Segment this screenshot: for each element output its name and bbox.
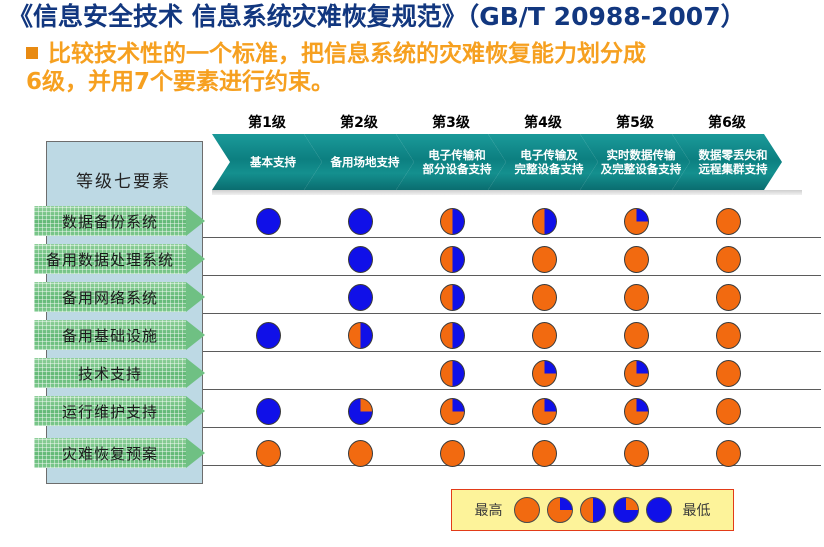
matrix-marker-r1-c3 [440,208,465,235]
matrix-marker-r1-c2 [348,208,373,235]
slide-bullet-block: 比较技术性的一个标准，把信息系统的灾难恢复能力划分成 6级，并用7个要素进行约束… [26,40,816,96]
legend-swatch-5 [646,497,672,523]
matrix-marker-r7-c4 [532,440,557,467]
square-bullet-icon [26,47,38,59]
slide-canvas: 《信息安全技术 信息系统灾难恢复规范》（GB/T 20988-2007） 比较技… [0,0,824,547]
row-tag-arrow-icon [186,438,205,468]
level-chevron-label-5: 实时数据传输及完整设备支持 [589,148,682,176]
row-tag-arrow-icon [186,320,205,350]
matrix-marker-r1-c1 [256,208,281,235]
legend-swatch-1 [514,497,540,523]
matrix-marker-r4-c3 [440,322,465,349]
matrix-marker-r3-c4 [532,284,557,311]
matrix-marker-r1-c6 [716,208,741,235]
row-tag-1[interactable]: 数据备份系统 [34,206,209,236]
row-tag-label-3: 备用网络系统 [34,282,186,312]
level-chevron-label-1: 基本支持 [238,155,296,169]
legend-high-label: 最高 [471,500,507,520]
matrix-marker-r4-c6 [716,322,741,349]
chevron-base-shadow [212,190,802,195]
matrix-marker-r7-c2 [348,440,373,467]
matrix-marker-r5-c6 [716,360,741,387]
row-tag-5[interactable]: 技术支持 [34,358,209,388]
matrix-marker-r3-c3 [440,284,465,311]
legend-low-label: 最低 [679,500,715,520]
matrix-marker-r2-c3 [440,246,465,273]
row-tag-7[interactable]: 灾难恢复预案 [34,438,209,468]
row-tag-arrow-icon [186,244,205,274]
matrix-marker-r6-c5 [624,398,649,425]
matrix-marker-r4-c5 [624,322,649,349]
legend-swatch-4 [613,497,639,523]
row-baseline-4 [203,351,821,352]
legend-swatch-2 [547,497,573,523]
matrix-marker-r3-c6 [716,284,741,311]
matrix-marker-r5-c5 [624,360,649,387]
matrix-marker-r3-c2 [348,284,373,311]
level-chevron-1[interactable]: 基本支持 [212,134,322,190]
row-tag-label-1: 数据备份系统 [34,206,186,236]
row-baseline-6 [203,427,821,428]
row-baseline-3 [203,313,821,314]
matrix-marker-r7-c1 [256,440,281,467]
matrix-marker-r5-c3 [440,360,465,387]
matrix-marker-r7-c3 [440,440,465,467]
row-tag-3[interactable]: 备用网络系统 [34,282,209,312]
matrix-marker-r5-c4 [532,360,557,387]
matrix-marker-r4-c2 [348,322,373,349]
matrix-marker-r6-c3 [440,398,465,425]
corner-header-label: 等级七要素 [46,150,201,208]
bullet-text-line2: 6级，并用7个要素进行约束。 [26,68,816,96]
level-label-6: 第6级 [672,112,782,130]
legend-box: 最高 最低 [451,489,734,531]
row-baseline-1 [203,237,821,238]
matrix-marker-r2-c6 [716,246,741,273]
matrix-marker-r2-c4 [532,246,557,273]
row-tag-arrow-icon [186,358,205,388]
slide-title: 《信息安全技术 信息系统灾难恢复规范》（GB/T 20988-2007） [8,2,824,32]
row-baseline-2 [203,275,821,276]
row-tag-arrow-icon [186,206,205,236]
level-chevron-label-3: 电子传输和部分设备支持 [411,148,492,176]
row-tag-label-7: 灾难恢复预案 [34,438,186,468]
legend-swatch-group [514,497,672,523]
bullet-text-line1: 比较技术性的一个标准，把信息系统的灾难恢复能力划分成 [48,41,646,67]
row-tag-arrow-icon [186,396,205,426]
row-tag-label-6: 运行维护支持 [34,396,186,426]
matrix-marker-r6-c4 [532,398,557,425]
row-tag-4[interactable]: 备用基础设施 [34,320,209,350]
matrix-marker-r2-c2 [348,246,373,273]
matrix-marker-r4-c4 [532,322,557,349]
matrix-marker-r1-c4 [532,208,557,235]
row-tag-label-2: 备用数据处理系统 [34,244,186,274]
row-tag-arrow-icon [186,282,205,312]
matrix-marker-r1-c5 [624,208,649,235]
legend-swatch-3 [580,497,606,523]
matrix-marker-r6-c1 [256,398,281,425]
matrix-marker-r6-c2 [348,398,373,425]
matrix-marker-r6-c6 [716,398,741,425]
level-chevron-label-4: 电子传输及完整设备支持 [503,148,584,176]
row-tag-2[interactable]: 备用数据处理系统 [34,244,209,274]
level-chevron-label-2: 备用场地支持 [319,155,400,169]
row-tag-6[interactable]: 运行维护支持 [34,396,209,426]
matrix-marker-r7-c5 [624,440,649,467]
matrix-marker-r2-c5 [624,246,649,273]
matrix-marker-r4-c1 [256,322,281,349]
matrix-marker-r7-c6 [716,440,741,467]
matrix-marker-r3-c5 [624,284,649,311]
row-baseline-5 [203,389,821,390]
level-chevron-label-6: 数据零丢失和远程集群支持 [687,148,768,176]
row-tag-label-4: 备用基础设施 [34,320,186,350]
row-tag-label-5: 技术支持 [34,358,186,388]
